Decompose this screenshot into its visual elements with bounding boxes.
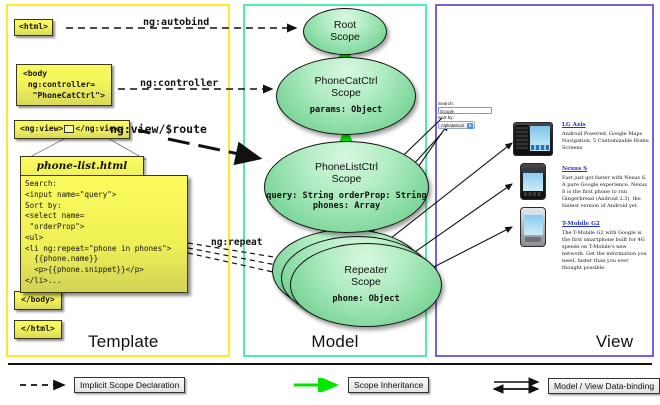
edge-label-ng-autobind: ng:autobind: [143, 17, 209, 28]
scope-repeater-name: RepeaterScope: [344, 265, 387, 289]
listing-title-link[interactable]: Nexus S: [562, 166, 650, 172]
legend-item-scope-inheritance: Scope Inheritance: [292, 377, 429, 393]
scope-phonecatctrl-props: params: Object: [310, 105, 382, 116]
listing-nexus-s: Nexus S Fast just got faster with Nexus …: [562, 166, 650, 210]
sort-by-select[interactable]: Alphabetical ⇅: [438, 121, 475, 129]
legend-item-data-binding: Model / View Data-binding: [492, 377, 660, 395]
legend-item-implicit-scope-declaration: Implicit Scope Declaration: [18, 377, 185, 393]
edge-label-ng-repeat: ng:repeat: [211, 237, 262, 248]
ng-view-placeholder-box: [64, 125, 74, 133]
scope-root-name: RootScope: [330, 20, 360, 44]
scope-phonelistctrl-props: query: String orderProp: String phones: …: [265, 191, 428, 212]
scope-phonecatctrl: PhoneCatCtrlScope params: Object: [276, 57, 416, 135]
dashed-arrow-icon: [18, 378, 74, 392]
chevron-updown-icon: ⇅: [467, 123, 473, 129]
tag-html-close: </html>: [14, 320, 62, 339]
listing-snippet: Fast just got faster with Nexus S. A pur…: [562, 175, 650, 210]
column-view-label: View: [437, 332, 660, 352]
listing-lg-axis: LG Axis Android Powered, Google Maps Nav…: [562, 122, 650, 152]
scope-repeater-props: phone: Object: [332, 294, 399, 305]
legend: Implicit Scope Declaration Scope Inherit…: [0, 361, 660, 405]
tag-body-open: <body ng:controller= "PhoneCatCtrl">: [16, 64, 112, 106]
callout-code: Search: <input name="query"> Sort by: <s…: [20, 175, 188, 293]
phone-list-callout: phone-list.html Search: <input name="que…: [20, 156, 188, 293]
listing-t-mobile-g2: T-Mobile G2 The T-Mobile G2 with Google …: [562, 221, 650, 272]
scope-phonecatctrl-name: PhoneCatCtrlScope: [314, 76, 377, 100]
search-label: Search:: [438, 101, 494, 107]
listing-snippet: Android Powered, Google Maps Navigation,…: [562, 131, 650, 152]
listing-title-link[interactable]: LG Axis: [562, 122, 650, 128]
search-input[interactable]: Google: [438, 107, 492, 114]
legend-label: Implicit Scope Declaration: [74, 377, 185, 393]
diagram-canvas: Template Model View: [0, 0, 660, 405]
tag-body-close: </body>: [14, 291, 62, 310]
sort-by-label: Sort by:: [438, 115, 494, 121]
legend-divider: [8, 363, 652, 365]
scope-root: RootScope: [303, 8, 387, 55]
double-arrow-icon: [492, 377, 548, 395]
edge-label-ng-controller: ng:controller: [140, 78, 218, 89]
scope-phonelistctrl-name: PhoneListCtrlScope: [315, 162, 378, 186]
green-arrow-icon: [292, 378, 348, 392]
tag-html-open: <html>: [14, 19, 53, 36]
legend-label: Model / View Data-binding: [548, 378, 660, 394]
phone-image-lg-axis: [513, 122, 553, 156]
legend-label: Scope Inheritance: [348, 377, 429, 393]
tag-ng-view-open: <ng:view>: [20, 124, 63, 133]
column-model-label: Model: [245, 332, 425, 352]
scope-phonelistctrl: PhoneListCtrlScope query: String orderPr…: [264, 141, 429, 233]
search-panel: Search: Google Sort by: Alphabetical ⇅: [438, 101, 494, 129]
sort-by-value: Alphabetical: [441, 123, 464, 128]
phone-image-nexus-s: [520, 163, 546, 200]
callout-title: phone-list.html: [20, 156, 144, 175]
listing-title-link[interactable]: T-Mobile G2: [562, 221, 650, 227]
listing-snippet: The T-Mobile G2 with Google is the first…: [562, 230, 650, 273]
phone-image-t-mobile-g2: [520, 207, 546, 247]
edge-label-ng-view-route: ng:view/$route: [110, 122, 207, 136]
scope-repeater: RepeaterScope phone: Object: [290, 243, 442, 327]
